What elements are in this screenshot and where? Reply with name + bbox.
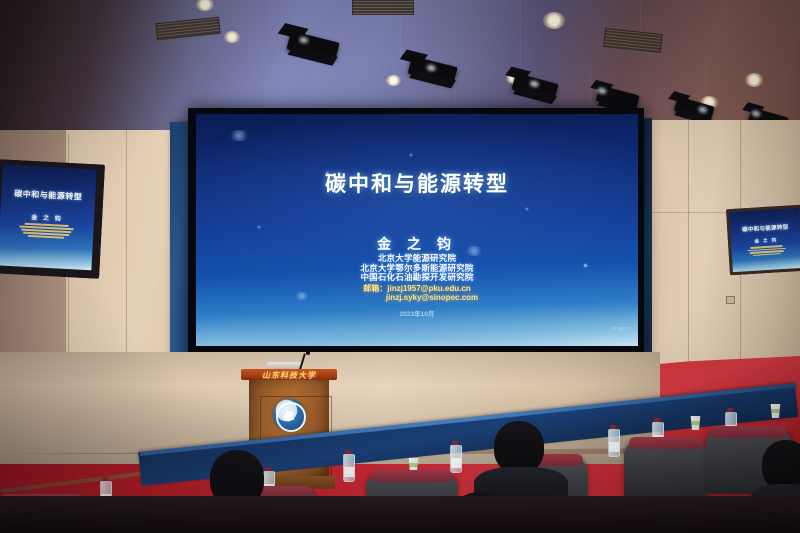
- slide-title: 碳中和与能源转型: [196, 168, 638, 198]
- bottle-label: [344, 467, 354, 477]
- ceiling-panel-seam: [520, 0, 521, 62]
- slide-date: 2023年10月: [196, 308, 638, 318]
- monitor-text-line: [753, 253, 781, 256]
- air-vent: [352, 0, 414, 15]
- seat-headrest: [372, 470, 453, 482]
- left-monitor-title: 碳中和与能源转型: [1, 187, 95, 203]
- bottle-body: [343, 454, 355, 482]
- slide-emails: 邮箱：jinzj1957@pku.edu.cn jinzj.syky@sinop…: [196, 284, 638, 303]
- cup-band: [409, 463, 418, 467]
- right-wall-monitor[interactable]: 碳中和与能源转型 金 之 钧: [726, 205, 800, 276]
- bottle-body: [608, 429, 620, 457]
- left-monitor-screen: 碳中和与能源转型 金 之 钧: [0, 165, 97, 271]
- osd-row: [613, 333, 632, 337]
- university-crest-icon: [273, 399, 305, 431]
- screen-star: [410, 154, 412, 156]
- bottle-label: [451, 458, 461, 468]
- bottle-body: [450, 445, 462, 473]
- osd-indicator: [618, 333, 632, 337]
- seat-headrest: [711, 426, 787, 438]
- screen-bokeh: [228, 130, 250, 141]
- wall-outlet: [726, 296, 735, 304]
- bottle-label: [609, 442, 619, 452]
- cup-band: [771, 409, 780, 413]
- audience-seat[interactable]: [624, 443, 708, 501]
- projection-screen[interactable]: 碳中和与能源转型 金 之 钧 北京大学能源研究院 北京大学鄂尔多斯能源研究院 中…: [196, 114, 638, 346]
- screen-osd-indicators[interactable]: [612, 327, 632, 337]
- osd-indicator: [612, 327, 616, 330]
- wall-panel-seam: [126, 130, 127, 385]
- right-monitor-detail-lines: [731, 244, 800, 258]
- auditorium-photo: 碳中和与能源转型 金 之 钧 北京大学能源研究院 北京大学鄂尔多斯能源研究院 中…: [0, 0, 800, 533]
- osd-indicator: [627, 327, 632, 330]
- ceiling-panel-seam: [270, 0, 271, 48]
- left-monitor-detail-lines: [0, 221, 94, 241]
- slide-email-secondary: jinzj.syky@sinopec.com: [196, 293, 638, 302]
- screen-star: [526, 208, 528, 210]
- right-monitor-title: 碳中和与能源转型: [730, 222, 800, 234]
- right-monitor-screen: 碳中和与能源转型 金 之 钧: [729, 208, 800, 272]
- ceiling-downlight: [224, 31, 240, 43]
- podium-banner: 山东科技大学: [241, 369, 337, 380]
- seat-headrest: [629, 437, 703, 449]
- cup-band: [691, 421, 700, 425]
- osd-indicator: [613, 333, 616, 336]
- slide-affiliation-3: 中国石化石油勘探开发研究院: [196, 273, 638, 283]
- screen-star: [258, 226, 260, 228]
- microphone-head: [306, 350, 310, 355]
- osd-indicator: [618, 327, 625, 331]
- slide-email-primary: 邮箱：jinzj1957@pku.edu.cn: [196, 284, 638, 293]
- osd-row: [612, 327, 632, 331]
- slide-speaker-name: 金 之 钧: [196, 234, 638, 254]
- left-wall-monitor[interactable]: 碳中和与能源转型 金 之 钧: [0, 159, 105, 278]
- person-head: [762, 440, 800, 490]
- ceiling-downlight: [543, 12, 565, 29]
- ceiling-downlight: [745, 73, 763, 87]
- person-head: [494, 421, 544, 473]
- slide-affiliations: 北京大学能源研究院 北京大学鄂尔多斯能源研究院 中国石化石油勘探开发研究院: [196, 254, 638, 283]
- foreground-floor: [0, 496, 800, 533]
